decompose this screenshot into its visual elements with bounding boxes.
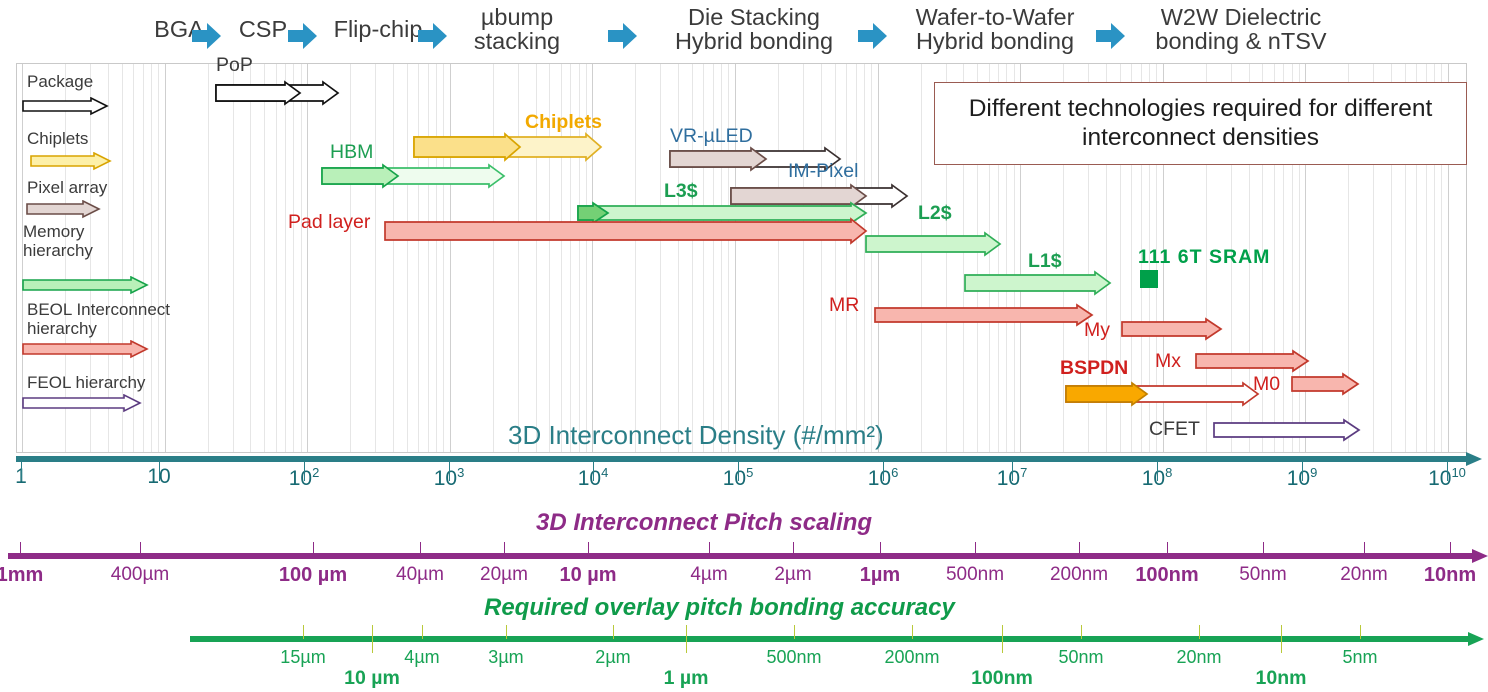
pitch-axis-tick-label: 20µm bbox=[480, 564, 528, 586]
overlay-axis-tick bbox=[1281, 625, 1282, 653]
overlay-axis-line bbox=[190, 630, 1488, 655]
axes-layer: 3D Interconnect Density (#/mm²)110102103… bbox=[0, 0, 1488, 692]
main-axis-tick bbox=[1447, 461, 1448, 481]
overlay-axis-tick-label: 100nm bbox=[971, 667, 1033, 690]
pitch-axis-tick-label: 40µm bbox=[396, 564, 444, 586]
pitch-axis-title: 3D Interconnect Pitch scaling bbox=[536, 509, 872, 537]
overlay-axis-tick bbox=[303, 625, 304, 639]
pitch-axis-tick bbox=[975, 542, 976, 556]
overlay-axis-tick bbox=[912, 625, 913, 639]
overlay-axis-tick bbox=[1081, 625, 1082, 639]
overlay-axis-tick-label: 500nm bbox=[766, 647, 821, 668]
pitch-axis-tick bbox=[1263, 542, 1264, 556]
main-axis-tick bbox=[159, 461, 160, 481]
pitch-axis-tick-label: 1mm bbox=[0, 564, 43, 587]
overlay-axis-tick-label: 15µm bbox=[280, 647, 325, 668]
pitch-axis-tick bbox=[709, 542, 710, 556]
pitch-axis-tick bbox=[20, 542, 21, 556]
overlay-axis-tick bbox=[506, 625, 507, 639]
pitch-axis-tick-label: 1µm bbox=[860, 564, 900, 587]
overlay-axis-tick bbox=[613, 625, 614, 639]
main-axis-tick bbox=[738, 461, 739, 481]
pitch-axis-tick-label: 20nm bbox=[1340, 564, 1388, 586]
pitch-axis-tick bbox=[140, 542, 141, 556]
pitch-axis-tick-label: 50nm bbox=[1239, 564, 1287, 586]
pitch-axis-tick bbox=[588, 542, 589, 556]
pitch-axis-tick-label: 500nm bbox=[946, 564, 1004, 586]
overlay-axis-title: Required overlay pitch bonding accuracy bbox=[484, 594, 955, 622]
overlay-axis-tick-label: 4µm bbox=[404, 647, 439, 668]
main-axis-tick bbox=[1012, 461, 1013, 481]
pitch-axis-tick-label: 400µm bbox=[111, 564, 169, 586]
pitch-axis-tick-label: 10nm bbox=[1424, 564, 1476, 587]
overlay-axis-tick-label: 200nm bbox=[884, 647, 939, 668]
overlay-axis-tick bbox=[1002, 625, 1003, 653]
pitch-axis-tick bbox=[1079, 542, 1080, 556]
pitch-axis-tick-label: 100nm bbox=[1135, 564, 1198, 587]
overlay-axis-tick-label: 3µm bbox=[488, 647, 523, 668]
overlay-axis-tick-label: 10nm bbox=[1256, 667, 1307, 690]
pitch-axis-tick bbox=[1364, 542, 1365, 556]
main-axis-title: 3D Interconnect Density (#/mm²) bbox=[508, 420, 884, 451]
pitch-axis-tick bbox=[880, 542, 881, 556]
overlay-axis-tick-label: 20nm bbox=[1176, 647, 1221, 668]
pitch-axis-tick-label: 2µm bbox=[774, 564, 811, 586]
pitch-axis-tick bbox=[793, 542, 794, 556]
main-axis-tick bbox=[1157, 461, 1158, 481]
pitch-axis-tick bbox=[1167, 542, 1168, 556]
main-axis-tick bbox=[304, 461, 305, 481]
overlay-axis-tick bbox=[372, 625, 373, 653]
overlay-axis-tick bbox=[422, 625, 423, 639]
overlay-axis-tick bbox=[1360, 625, 1361, 639]
pitch-axis-tick-label: 100 µm bbox=[279, 564, 347, 587]
overlay-axis-tick bbox=[686, 625, 687, 653]
pitch-axis-tick bbox=[1450, 542, 1451, 556]
overlay-axis-tick bbox=[1199, 625, 1200, 639]
pitch-axis-tick bbox=[420, 542, 421, 556]
overlay-axis-tick-label: 1 µm bbox=[664, 667, 709, 690]
pitch-axis-tick-label: 200nm bbox=[1050, 564, 1108, 586]
pitch-axis-tick-label: 10 µm bbox=[559, 564, 616, 587]
main-axis-tick bbox=[449, 461, 450, 481]
pitch-axis-tick bbox=[504, 542, 505, 556]
main-axis-tick bbox=[593, 461, 594, 481]
overlay-axis-tick bbox=[794, 625, 795, 639]
overlay-axis-tick-label: 5nm bbox=[1342, 647, 1377, 668]
main-axis-tick bbox=[21, 461, 22, 481]
overlay-axis-tick-label: 50nm bbox=[1058, 647, 1103, 668]
pitch-axis-tick bbox=[313, 542, 314, 556]
main-axis-tick bbox=[883, 461, 884, 481]
pitch-axis-tick-label: 4µm bbox=[690, 564, 727, 586]
main-axis-tick bbox=[1302, 461, 1303, 481]
overlay-axis-tick-label: 10 µm bbox=[344, 667, 400, 690]
overlay-axis-tick-label: 2µm bbox=[595, 647, 630, 668]
